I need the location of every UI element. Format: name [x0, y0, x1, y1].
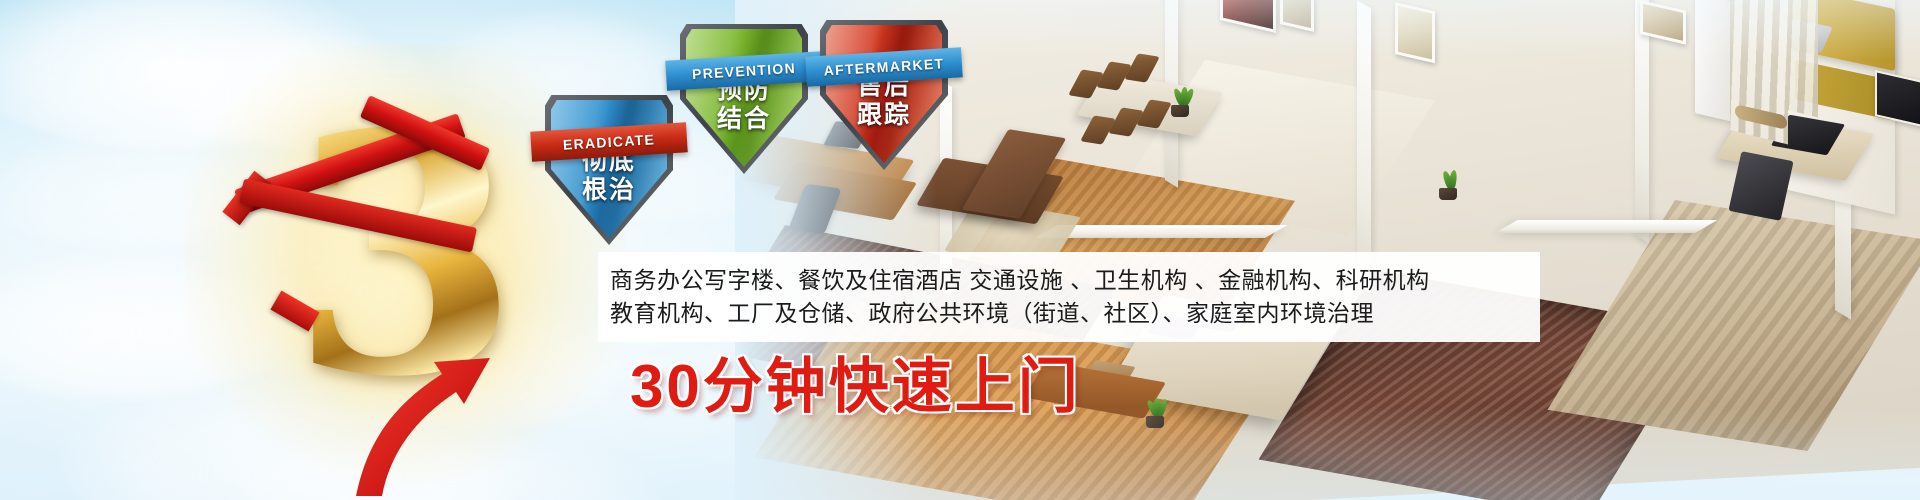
service-scope-line-1: 商务办公写字楼、餐饮及住宿酒店 交通设施 、卫生机构 、金融机构、科研机构 [610, 264, 1532, 297]
shield-prevention: 预防 结合 PREVENTION [680, 24, 808, 174]
plant-icon [1167, 65, 1193, 117]
plant-icon [1140, 370, 1170, 428]
plant-icon [1435, 150, 1461, 200]
headline-text: 30分钟快速上门 [630, 355, 1081, 419]
shield-aftermarket: 售后 跟踪 AFTERMARKET [820, 20, 948, 170]
promotional-banner: 3 彻底 根治 ERADICATE 预防 结合 PREVENTION [0, 0, 1920, 500]
wall-art [1395, 2, 1435, 63]
service-scope-line-2: 教育机构、工厂及仓储、政府公共环境（街道、社区）、家庭室内环境治理 [610, 297, 1532, 330]
shield-eradicate: 彻底 根治 ERADICATE [545, 95, 673, 245]
service-scope-box: 商务办公写字楼、餐饮及住宿酒店 交通设施 、卫生机构 、金融机构、科研机构 教育… [598, 252, 1540, 342]
gold-numeral-graphic: 3 [255, 95, 555, 425]
